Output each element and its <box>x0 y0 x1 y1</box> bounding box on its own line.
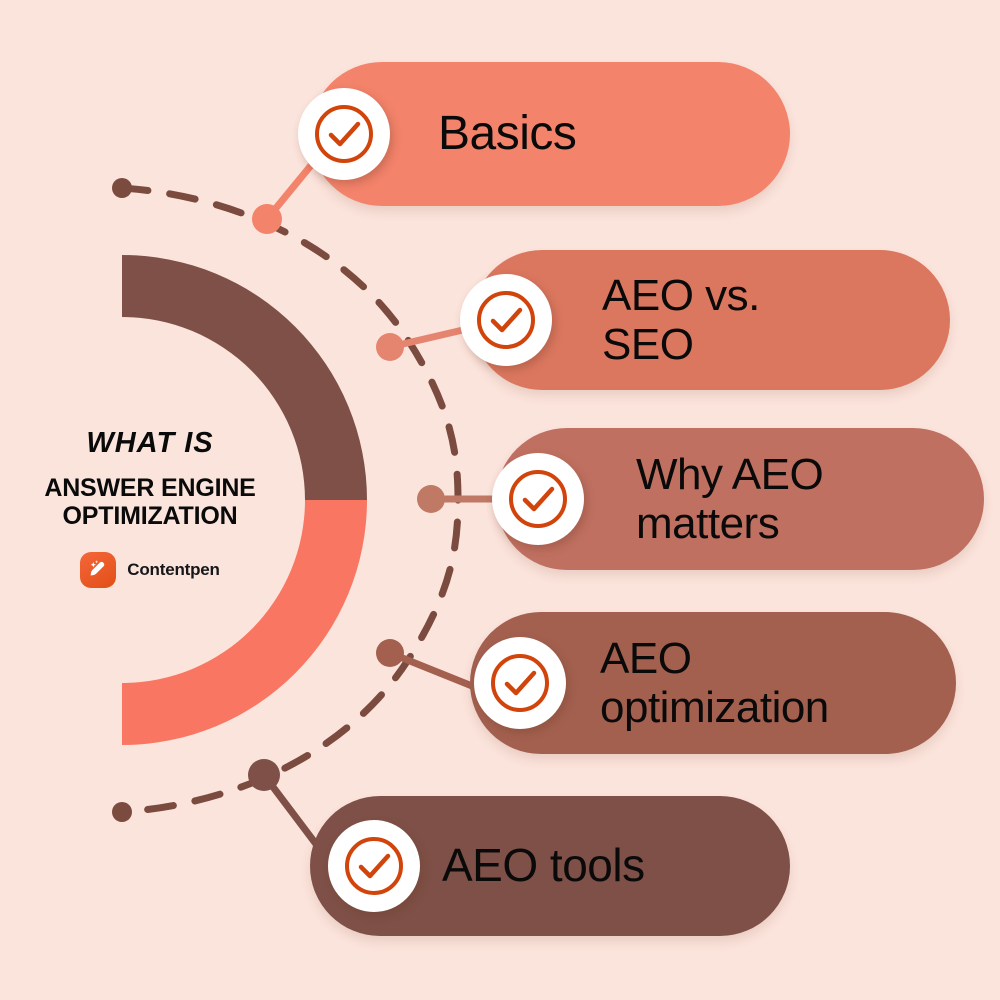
stem-aeo-tools <box>264 775 322 852</box>
check-circle-icon <box>328 820 420 912</box>
connector-dot-aeo-vs-seo <box>376 333 404 361</box>
dashed-path-start-dot <box>112 178 132 198</box>
page-title: ANSWER ENGINE OPTIMIZATION <box>0 474 300 530</box>
item-pill-aeo-optimization[interactable]: AEO optimization <box>470 612 956 754</box>
item-label: Basics <box>438 107 576 161</box>
center-title-block: WHAT IS ANSWER ENGINE OPTIMIZATION Conte… <box>0 428 300 588</box>
connector-dot-why-aeo-matters <box>417 485 445 513</box>
item-label: Why AEO matters <box>636 450 823 549</box>
connector-dot-aeo-optimization <box>376 639 404 667</box>
check-circle-icon <box>492 453 584 545</box>
brand-lockup: Contentpen <box>0 552 300 588</box>
item-label: AEO vs. SEO <box>602 271 760 370</box>
item-pill-why-aeo-matters[interactable]: Why AEO matters <box>496 428 984 570</box>
stem-aeo-optimization <box>390 653 482 690</box>
brand-name: Contentpen <box>127 560 219 580</box>
connector-dot-aeo-tools <box>248 759 280 791</box>
infographic-canvas: WHAT IS ANSWER ENGINE OPTIMIZATION Conte… <box>0 0 1000 1000</box>
check-circle-icon <box>298 88 390 180</box>
check-circle-icon <box>460 274 552 366</box>
pen-sparkle-icon <box>80 552 116 588</box>
kicker-text: WHAT IS <box>0 428 300 458</box>
item-label: AEO tools <box>442 840 645 892</box>
item-label: AEO optimization <box>600 634 829 733</box>
item-pill-aeo-vs-seo[interactable]: AEO vs. SEO <box>472 250 950 390</box>
connector-dot-basics <box>252 204 282 234</box>
item-pill-basics[interactable]: Basics <box>310 62 790 206</box>
dashed-path-end-dot <box>112 802 132 822</box>
check-circle-icon <box>474 637 566 729</box>
item-pill-aeo-tools[interactable]: AEO tools <box>310 796 790 936</box>
